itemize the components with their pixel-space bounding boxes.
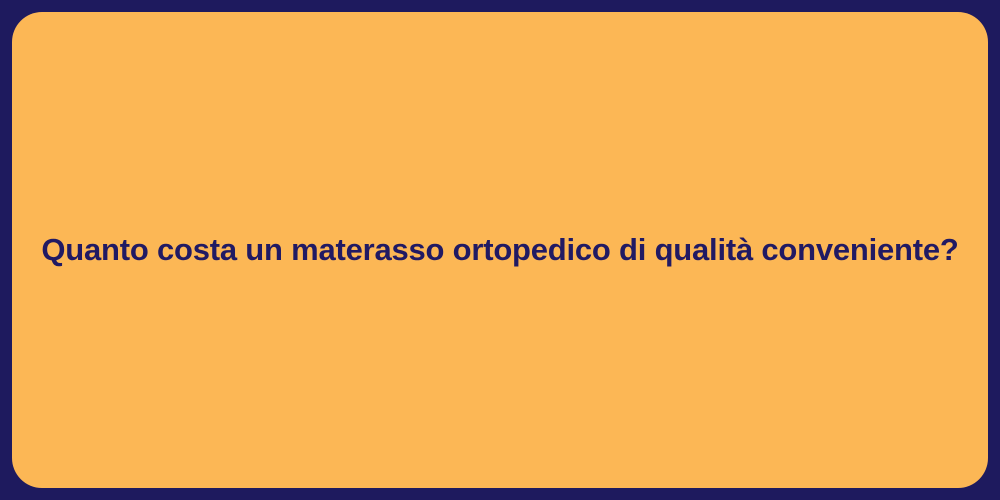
card-outer-frame: Quanto costa un materasso ortopedico di … [0, 0, 1000, 500]
card-panel: Quanto costa un materasso ortopedico di … [12, 12, 988, 488]
headline-text: Quanto costa un materasso ortopedico di … [41, 231, 958, 270]
